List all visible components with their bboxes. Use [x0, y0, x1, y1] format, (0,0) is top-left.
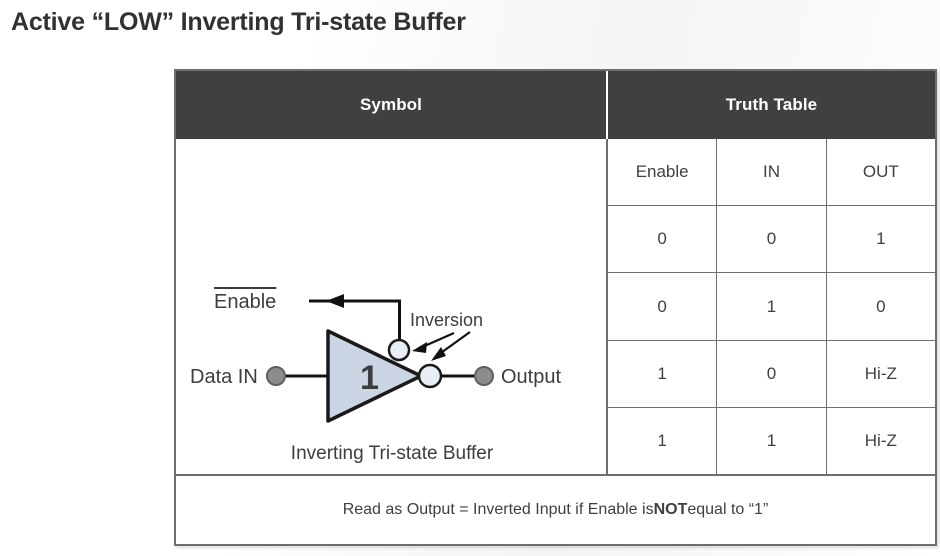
truth-column-header-enable: Enable [608, 139, 717, 205]
symbol-pane: Enable 1 Data IN [176, 139, 608, 474]
table-body: Enable 1 Data IN [176, 139, 935, 474]
cell-out: 1 [827, 206, 935, 272]
output-node [475, 367, 493, 385]
data-in-node [267, 367, 285, 385]
cell-enable: 0 [608, 206, 717, 272]
enable-wire [309, 294, 401, 344]
cell-enable: 0 [608, 273, 717, 339]
table-header-row: Symbol Truth Table [176, 71, 935, 139]
cell-out: 0 [827, 273, 935, 339]
cell-in: 1 [717, 273, 826, 339]
truth-column-header-out: OUT [827, 139, 935, 205]
footer-emphasis: NOT [654, 501, 688, 519]
table-row: 0 0 1 [608, 206, 935, 273]
footer-prefix: Read as Output = Inverted Input if Enabl… [343, 501, 654, 519]
header-cell-truth-table: Truth Table [608, 71, 935, 139]
table-row: 0 1 0 [608, 273, 935, 340]
header-cell-symbol: Symbol [176, 71, 608, 139]
cell-out: Hi-Z [827, 341, 935, 407]
symbol-caption: Inverting Tri-state Buffer [291, 443, 494, 464]
truth-table-grid: Enable IN OUT 0 0 1 0 1 0 1 0 Hi-Z 1 [608, 139, 935, 474]
enable-arrowhead [326, 294, 344, 308]
gate-glyph-label: 1 [360, 359, 379, 397]
tri-state-buffer-diagram: Enable 1 Data IN [176, 139, 608, 480]
cell-out: Hi-Z [827, 408, 935, 474]
cell-enable: 1 [608, 408, 717, 474]
inversion-label: Inversion [410, 310, 483, 330]
enable-inversion-bubble [389, 340, 409, 360]
data-in-label: Data IN [190, 366, 258, 388]
truth-column-header-in: IN [717, 139, 826, 205]
table-row: 1 1 Hi-Z [608, 408, 935, 474]
table-row: 1 0 Hi-Z [608, 341, 935, 408]
cell-in: 0 [717, 341, 826, 407]
symbol-truth-table: Symbol Truth Table Enable 1 [174, 69, 937, 546]
cell-enable: 1 [608, 341, 717, 407]
cell-in: 0 [717, 206, 826, 272]
footer-suffix: equal to “1” [687, 501, 768, 519]
output-label: Output [501, 366, 561, 388]
output-inversion-bubble [419, 365, 441, 387]
output-wire [441, 367, 493, 385]
page-title: Active “LOW” Inverting Tri-state Buffer [11, 8, 466, 37]
enable-label: Enable [214, 291, 276, 313]
inversion-arrow-to-output-bubble [431, 332, 470, 361]
data-in-wire [267, 367, 329, 385]
table-footer-note: Read as Output = Inverted Input if Enabl… [176, 474, 935, 544]
truth-table-header-row: Enable IN OUT [608, 139, 935, 206]
cell-in: 1 [717, 408, 826, 474]
inversion-arrow-to-enable-bubble [412, 333, 454, 353]
